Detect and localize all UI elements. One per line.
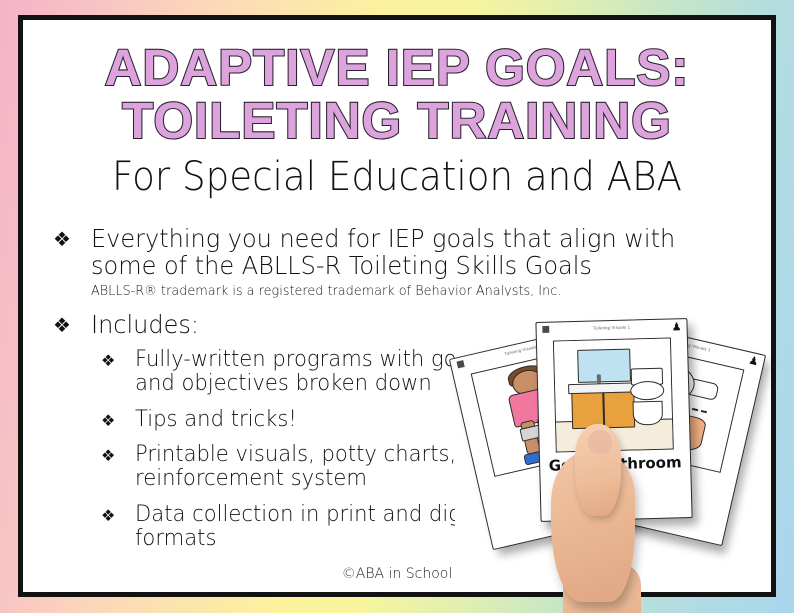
list-item: ❖ Everything you need for IEP goals that… — [53, 225, 753, 279]
poster-canvas: ADAPTIVE IEP GOALS: TOILETING TRAINING F… — [0, 0, 794, 613]
list-item-label: Includes: — [91, 311, 199, 338]
list-item-label: Tips and tricks! — [135, 408, 297, 432]
diamond-bullet-icon: ❖ — [101, 443, 135, 465]
page-title-line-2: TOILETING TRAINING — [23, 95, 771, 146]
list-item-label: Everything you need for IEP goals that a… — [91, 225, 727, 279]
diamond-bullet-icon: ❖ — [101, 408, 135, 430]
photo-backdrop — [455, 296, 771, 582]
diamond-bullet-icon: ❖ — [53, 225, 91, 250]
page-title-line-1: ADAPTIVE IEP GOALS: — [23, 42, 771, 93]
page-subtitle: For Special Education and ABA — [49, 154, 745, 200]
diamond-bullet-icon: ❖ — [53, 311, 91, 336]
diamond-bullet-icon: ❖ — [101, 348, 135, 370]
diamond-bullet-icon: ❖ — [101, 503, 135, 525]
